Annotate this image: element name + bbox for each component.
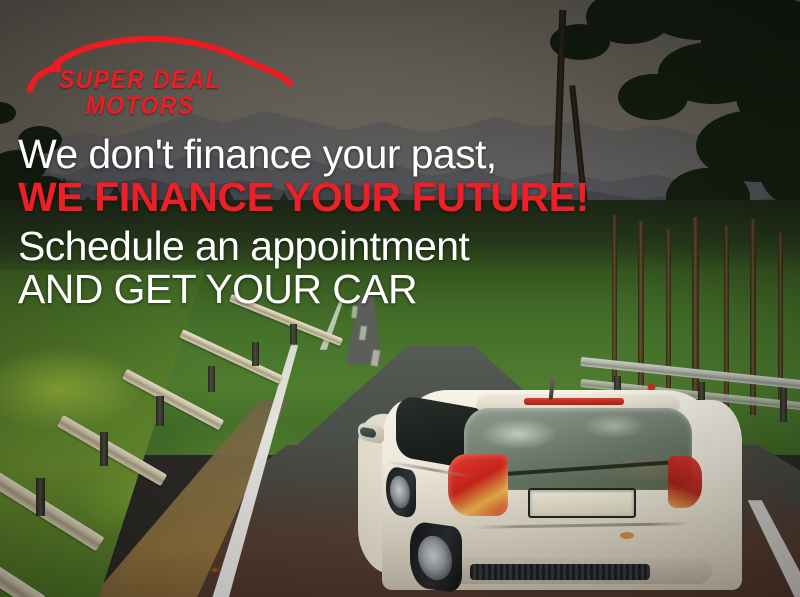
headline-line-4: AND GET YOUR CAR [18, 269, 718, 310]
license-plate-surface [533, 493, 631, 513]
license-plate [528, 488, 636, 518]
advertisement-banner: SUPER DEAL MOTORS We don't finance your … [0, 0, 800, 597]
brand-logo[interactable]: SUPER DEAL MOTORS [18, 22, 318, 122]
headline-line-1: We don't finance your past, [18, 134, 718, 175]
headline-block: We don't finance your past, WE FINANCE Y… [18, 134, 718, 310]
headline-line-3: Schedule an appointment [18, 226, 718, 267]
logo-text-line2: MOTORS [2, 94, 278, 119]
car-lower-grille [470, 564, 650, 580]
car-photo [352, 372, 772, 597]
car-brake-light [524, 398, 624, 405]
car-taillight-right [668, 456, 702, 508]
car-reflector [620, 532, 634, 539]
car-taillight-left [448, 454, 508, 516]
logo-text-line1: SUPER DEAL [2, 68, 278, 93]
headline-line-2-emphasis: WE FINANCE YOUR FUTURE! [18, 177, 718, 218]
guardrail-left [0, 312, 410, 597]
